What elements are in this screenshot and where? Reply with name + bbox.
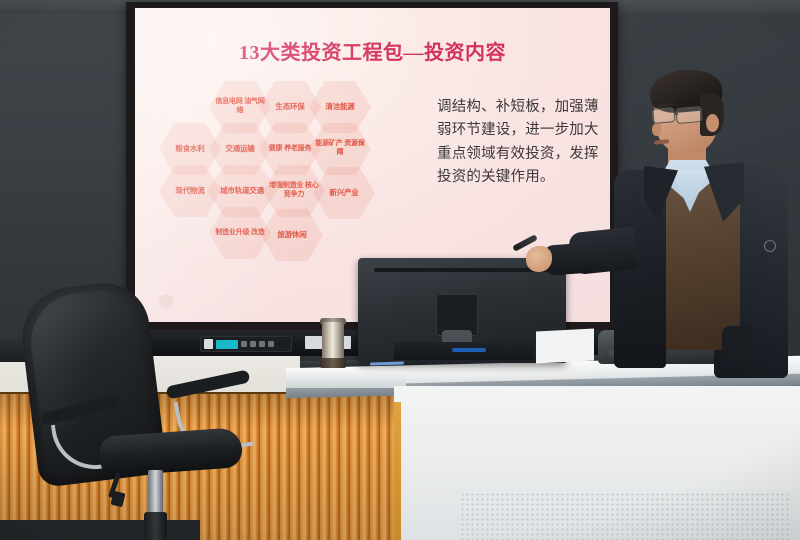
hex-label: 旅游休闲 — [274, 230, 309, 239]
control-panel-button[interactable] — [259, 341, 265, 347]
chair-base — [144, 512, 167, 540]
hexagon-cluster: 信息电网 油气网络 生态环保 清洁能源 粮食水利 交通运输 健康 养老服务 能源… — [151, 80, 383, 270]
classroom-photo-scene: 13大类投资工程包—投资内容 信息电网 油气网络 生态环保 清洁能源 粮食水利 … — [0, 0, 800, 540]
paper-sheet — [536, 328, 594, 363]
control-panel-cyan-label — [216, 340, 238, 349]
hex-label: 健康 养老服务 — [266, 145, 315, 154]
eyeglasses-lens-right — [675, 106, 702, 124]
hex-label: 制造业升级 改造 — [212, 229, 267, 238]
hex-label: 城市轨道交通 — [217, 186, 267, 195]
chair-gas-cylinder — [148, 470, 163, 516]
podium-side-edge — [394, 402, 401, 540]
control-panel-button[interactable] — [250, 341, 256, 347]
hex-label: 新兴产业 — [326, 188, 361, 197]
hex-label: 生态环保 — [272, 102, 307, 111]
control-panel-button[interactable] — [241, 341, 247, 347]
hex-manufacturing-upgrade[interactable]: 制造业升级 改造 — [209, 206, 271, 260]
nose — [652, 124, 661, 136]
monitor-vent-slot — [374, 268, 550, 272]
side-table-left — [286, 372, 406, 388]
ear — [706, 114, 719, 132]
hex-tourism-leisure[interactable]: 旅游休闲 — [261, 208, 323, 262]
slide-paragraph: 调结构、补短板，加强薄弱环节建设，进一步加大重点领域有效投资，发挥投资的关键作用… — [437, 96, 601, 190]
hex-label: 能源矿产 资源保障 — [309, 140, 371, 157]
hex-label: 交通运输 — [222, 144, 257, 153]
hex-emerging-industries[interactable]: 新兴产业 — [313, 166, 375, 220]
network-cable — [452, 348, 486, 352]
presenter — [596, 58, 800, 378]
jacket-sleeve-logo-icon — [764, 240, 776, 252]
control-panel-badge — [204, 339, 213, 349]
thermos-base — [320, 358, 346, 368]
hand-left — [526, 246, 552, 272]
hex-label: 粮食水利 — [172, 144, 207, 153]
hex-label: 现代物流 — [172, 186, 207, 195]
podium-perforated-grille — [460, 492, 790, 540]
control-panel-button[interactable] — [268, 341, 274, 347]
slide-title: 13大类投资工程包—投资内容 — [135, 36, 610, 65]
hand-in-pocket — [722, 326, 752, 360]
eyeglasses-lens-left — [651, 107, 675, 124]
floor — [0, 520, 200, 540]
eyeglasses-bridge — [674, 113, 678, 115]
av-control-panel[interactable] — [200, 336, 292, 352]
hex-label: 清洁能源 — [322, 102, 357, 111]
slide-corner-decoration — [159, 294, 173, 308]
